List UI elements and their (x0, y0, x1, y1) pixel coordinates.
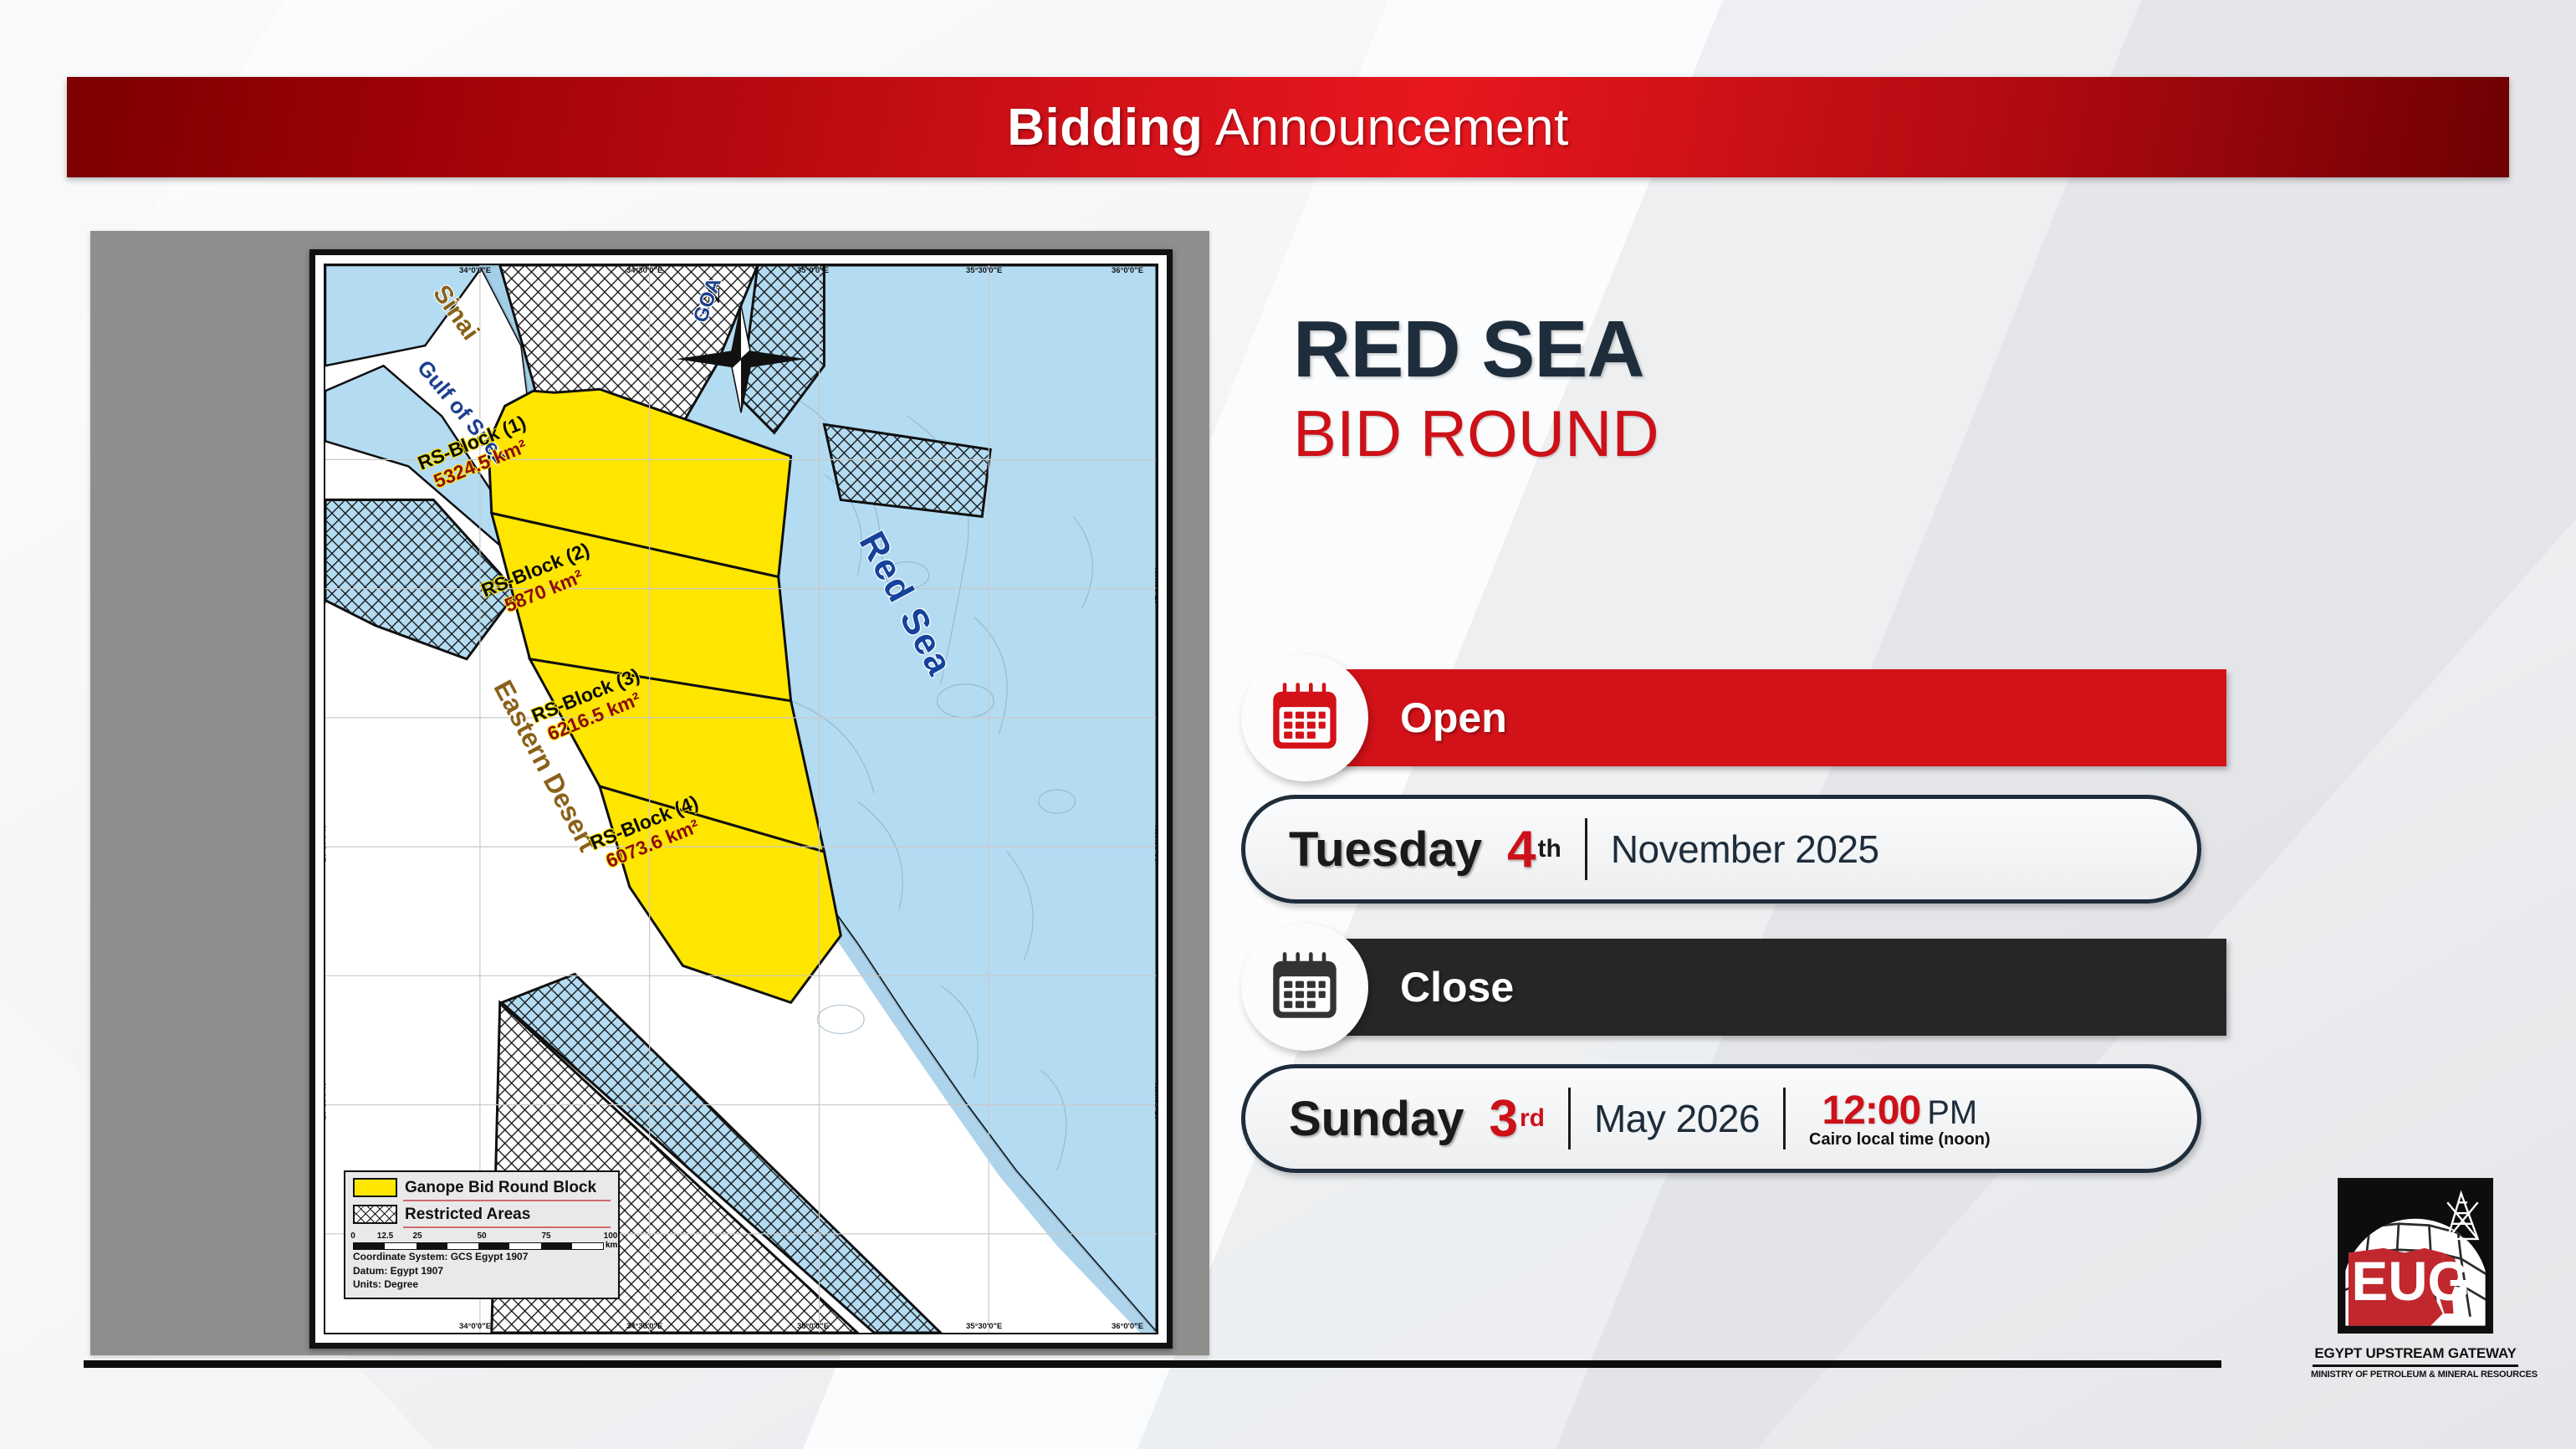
logo-ministry-line: MINISTRY OF PETROLEUM & MINERAL RESOURCE… (2311, 1370, 2520, 1380)
open-date-number: 4 (1507, 820, 1536, 879)
eug-wordmark: EUG (2352, 1251, 2471, 1312)
scale-tick-5: 100 (604, 1231, 618, 1241)
lat-tick-left-5: 25°30'0"N (324, 1083, 328, 1120)
close-timezone-note: Cairo local time (noon) (1809, 1130, 1991, 1149)
open-divider (1585, 818, 1587, 880)
legend-swatch-restricted (353, 1205, 397, 1224)
scale-tick-0: 0 (350, 1231, 355, 1241)
lat-tick-left-2: 27°0'0"N (324, 699, 328, 731)
close-meridiem: PM (1927, 1094, 1977, 1132)
close-calendar-icon-circle (1241, 924, 1368, 1051)
lat-tick-right-3: 26°30'0"N (1154, 826, 1158, 863)
eug-logo: EUG EGYPT UPSTREAM GATEWAY MINISTRY OF P… (2311, 1178, 2520, 1380)
open-label: Open (1400, 694, 1507, 742)
lat-tick-right-5: 25°30'0"N (1154, 1083, 1158, 1120)
lon-tick-top-0: 34°0'0"E (459, 266, 491, 275)
lat-tick-left-0: 28°0'0"N (324, 441, 328, 474)
close-date-pill: Sunday 3 rd May 2026 12:00 PM Cairo loca… (1241, 1064, 2201, 1173)
lon-tick-bottom-2: 35°0'0"E (797, 1322, 829, 1331)
lon-tick-bottom-3: 35°30'0"E (966, 1322, 1002, 1331)
legend-units: Units: Degree (353, 1277, 611, 1291)
map-frame: N Sinai Gulf of Suez GOA Eastern Desert … (309, 249, 1173, 1349)
page-title: RED SEA BID ROUND (1293, 310, 1659, 472)
open-status-bar: Open (1293, 669, 2226, 766)
scale-tick-1: 12.5 (377, 1231, 393, 1241)
open-calendar-icon-circle (1241, 654, 1368, 781)
close-date-number: 3 (1490, 1089, 1518, 1149)
legend-scale-bar: 0 12.5 25 50 75 100 km (353, 1231, 611, 1250)
scale-tick-3: 50 (477, 1231, 486, 1241)
legend-datum: Datum: Egypt 1907 (353, 1264, 611, 1277)
title-main: RED SEA (1293, 310, 1659, 390)
map-panel: N Sinai Gulf of Suez GOA Eastern Desert … (90, 231, 1209, 1355)
lat-tick-right-1: 27°30'0"N (1154, 568, 1158, 605)
close-status-bar: Close (1293, 939, 2226, 1036)
lon-tick-top-1: 34°30'0"E (626, 266, 662, 275)
header-banner: Bidding Announcement (67, 77, 2509, 177)
legend-row-restricted: Restricted Areas (353, 1205, 611, 1224)
lat-tick-left-1: 27°30'0"N (324, 568, 328, 605)
eug-logo-mark: EUG (2338, 1178, 2493, 1334)
lat-tick-left-3: 26°30'0"N (324, 826, 328, 863)
close-month-year: May 2026 (1594, 1096, 1760, 1141)
legend-divider-1 (403, 1200, 611, 1201)
legend-row-block: Ganope Bid Round Block (353, 1178, 611, 1197)
title-sub: BID ROUND (1293, 397, 1659, 472)
lon-tick-top-4: 36°0'0"E (1112, 266, 1143, 275)
calendar-icon (1266, 949, 1343, 1026)
calendar-icon (1266, 679, 1343, 756)
close-divider-2 (1783, 1088, 1786, 1149)
close-time-row: 12:00 PM (1822, 1088, 1977, 1134)
close-time-group: 12:00 PM Cairo local time (noon) (1809, 1088, 1991, 1149)
open-date-ordinal: th (1538, 835, 1561, 863)
open-date-pill: Tuesday 4 th November 2025 (1241, 795, 2201, 904)
scale-tick-4: 75 (541, 1231, 550, 1241)
open-day: Tuesday (1289, 822, 1482, 878)
lat-tick-right-0: 28°0'0"N (1154, 441, 1158, 474)
legend-divider-2 (403, 1226, 611, 1228)
close-time: 12:00 (1822, 1088, 1920, 1134)
map-canvas: N Sinai Gulf of Suez GOA Eastern Desert … (324, 264, 1158, 1334)
lon-tick-bottom-0: 34°0'0"E (459, 1322, 491, 1331)
close-label: Close (1400, 963, 1514, 1011)
logo-divider (2313, 1365, 2518, 1367)
lat-tick-right-2: 27°0'0"N (1154, 699, 1158, 731)
lat-tick-left-6: 25°0'0"N (324, 1214, 328, 1247)
legend-crs: Coordinate System: GCS Egypt 1907 (353, 1250, 611, 1263)
scale-tick-labels: 0 12.5 25 50 75 100 (353, 1231, 611, 1242)
scale-tick-2: 25 (412, 1231, 422, 1241)
legend-swatch-block (353, 1178, 397, 1197)
legend-label-block: Ganope Bid Round Block (405, 1179, 596, 1197)
close-day: Sunday (1289, 1091, 1464, 1147)
legend-label-restricted: Restricted Areas (405, 1206, 530, 1224)
banner-title-regular: Announcement (1203, 99, 1568, 156)
lon-tick-bottom-1: 34°30'0"E (626, 1322, 662, 1331)
lat-tick-right-6: 25°0'0"N (1154, 1214, 1158, 1247)
banner-title-bold: Bidding (1007, 99, 1203, 156)
lon-tick-top-2: 35°0'0"E (797, 266, 829, 275)
banner-title: Bidding Announcement (1007, 98, 1569, 157)
logo-company-name: EGYPT UPSTREAM GATEWAY (2311, 1345, 2520, 1362)
footer-rule (84, 1360, 2221, 1368)
lat-tick-right-4: 26°0'0"N (1154, 956, 1158, 989)
close-date-ordinal: rd (1520, 1104, 1545, 1133)
map-legend: Ganope Bid Round Block Restricted Areas … (344, 1170, 620, 1299)
lat-tick-left-4: 26°0'0"N (324, 956, 328, 989)
lon-tick-top-3: 35°30'0"E (966, 266, 1002, 275)
schedule-close: Close (1241, 939, 2295, 1039)
lon-tick-bottom-4: 36°0'0"E (1112, 1322, 1143, 1331)
open-month-year: November 2025 (1611, 827, 1879, 872)
close-divider-1 (1568, 1088, 1571, 1149)
scale-bar-graphic (353, 1242, 604, 1250)
schedule-open: Open (1241, 669, 2295, 770)
